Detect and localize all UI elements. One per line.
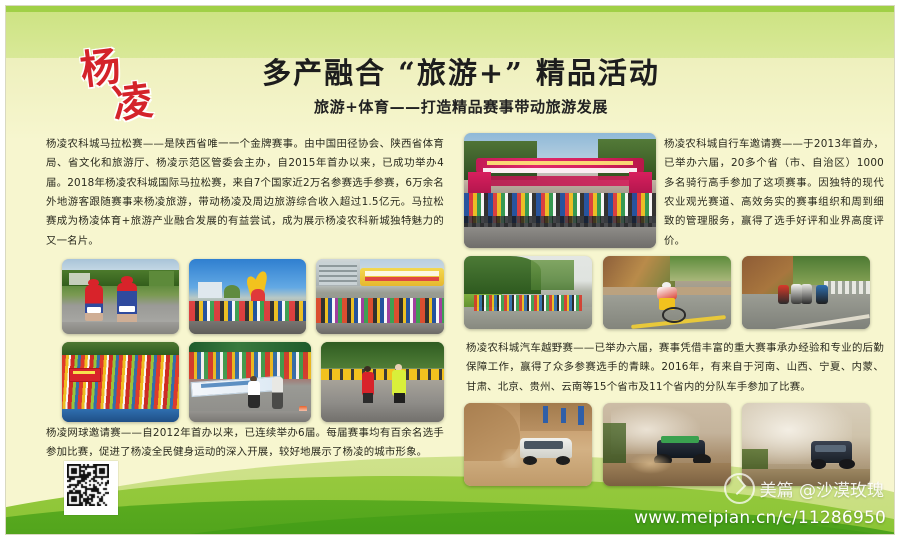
offroad-paragraph: 杨凌农科城汽车越野赛——已举办六届，赛事凭借丰富的重大赛事承办经验和专业的后勤保… [466,339,884,397]
yangling-logo: 杨 凌 [78,36,170,118]
qr-code[interactable] [64,461,118,515]
marathon-mascot-start-photo [189,259,306,334]
meipian-logo-icon [724,473,755,504]
meipian-url-text: www.meipian.cn/c/11286950 [634,508,886,528]
offroad-white-suv-dune-photo [464,403,592,486]
cycling-paragraph: 杨凌农科城自行车邀请赛——于2013年首办，已举办六届，20多个省（市、自治区）… [664,135,884,251]
cycling-peloton-photo [464,256,592,329]
poster-canvas: 杨 凌 多产融合 “旅游+” 精品活动 旅游+体育——打造精品赛事带动旅游发展 … [6,6,894,534]
tennis-paragraph: 杨凌网球邀请赛——自2012年首办以来，已连续举办6届。每届赛事均有百余名选手参… [46,424,444,463]
marathon-paragraph: 杨凌农科城马拉松赛——是陕西省唯一一个金牌赛事。由中国田径协会、陕西省体育局、省… [46,135,444,251]
meipian-watermark: 美篇 @沙漠玫瑰 [724,473,884,504]
poster-title: 多产融合 “旅游+” 精品活动 [236,50,686,92]
meipian-brand-text: 美篇 @沙漠玫瑰 [760,476,884,501]
marathon-finish-line-photo [189,342,311,422]
marathon-crowd-archway-photo [316,259,444,334]
marathon-runners-cheering-photo [321,342,444,422]
cycling-start-banner-photo [464,133,656,248]
logo-char-ling: 凌 [109,68,156,130]
cycling-solo-rider-photo [603,256,731,329]
offroad-buggy-dust-photo [603,403,731,486]
poster-subtitle: 旅游+体育——打造精品赛事带动旅游发展 [236,96,686,117]
cycling-group-curve-photo [742,256,870,329]
marathon-mass-start-flag-photo [62,342,179,422]
marathon-costume-runners-photo [62,259,179,334]
